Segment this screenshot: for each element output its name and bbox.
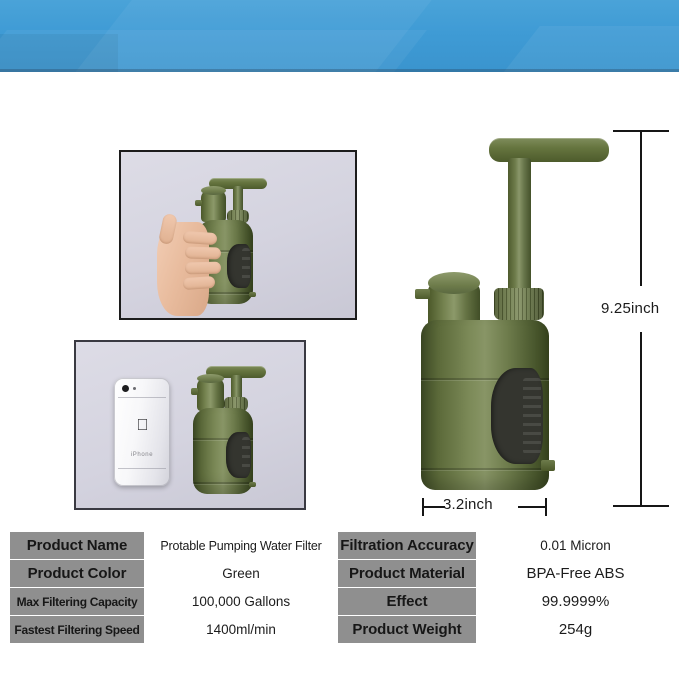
finger	[185, 246, 221, 259]
photo-background	[76, 342, 304, 508]
width-dimension-label: 3.2inch	[443, 496, 493, 513]
finger	[183, 231, 218, 245]
table-row: Product Name Protable Pumping Water Filt…	[10, 532, 675, 560]
inlet-cap-top	[201, 186, 226, 195]
spec-value: 254g	[477, 616, 675, 644]
spec-value: Protable Pumping Water Filter	[145, 532, 338, 560]
spec-label: Max Filtering Capacity	[10, 588, 145, 616]
side-tab	[415, 289, 430, 299]
grip-ribs	[242, 437, 251, 474]
iphone-illustration:  iPhone	[114, 378, 170, 486]
grip-ribs	[523, 378, 541, 455]
filter-body	[421, 320, 549, 490]
side-tab	[191, 388, 198, 395]
table-row: Max Filtering Capacity 100,000 Gallons E…	[10, 588, 675, 616]
spec-value: BPA-Free ABS	[477, 560, 675, 588]
spec-value: 1400ml/min	[145, 616, 338, 644]
photo-filter-beside-iphone:  iPhone	[74, 340, 306, 510]
table-row: Fastest Filtering Speed 1400ml/min Produ…	[10, 616, 675, 644]
spec-value: 100,000 Gallons	[145, 588, 338, 616]
pump-handle-bar	[489, 138, 609, 162]
apple-logo-icon: 	[136, 418, 149, 433]
outlet-nozzle	[249, 292, 256, 297]
height-dimension-bottom-cap	[613, 505, 669, 507]
outlet-nozzle	[249, 482, 256, 487]
height-dimension-line-upper	[640, 130, 642, 286]
rubber-grip-pad	[491, 368, 543, 464]
table-row: Product Color Green Product Material BPA…	[10, 560, 675, 588]
camera-lens-icon	[122, 385, 129, 392]
body-seam	[193, 482, 253, 484]
spec-label: Effect	[338, 588, 477, 616]
outlet-nozzle	[541, 460, 555, 471]
height-dimension-line-lower	[640, 332, 642, 507]
spec-label: Product Name	[10, 532, 145, 560]
top-blue-banner	[0, 0, 679, 72]
finger	[183, 276, 216, 290]
width-dimension-line-left	[422, 506, 445, 508]
filter-body	[193, 408, 253, 494]
specification-table: Product Name Protable Pumping Water Filt…	[9, 531, 675, 644]
spec-value: Green	[145, 560, 338, 588]
side-tab	[195, 200, 202, 206]
antenna-line	[118, 397, 166, 398]
pump-collar	[494, 288, 544, 320]
spec-label: Product Weight	[338, 616, 477, 644]
rubber-grip-pad	[227, 244, 251, 288]
grip-ribs	[242, 248, 250, 283]
height-dimension-label: 9.25inch	[601, 300, 659, 317]
spec-label: Fastest Filtering Speed	[10, 616, 145, 644]
product-infographic-page:  iPhone	[0, 0, 679, 679]
inlet-cap-top	[428, 272, 480, 294]
width-dimension-line-right	[518, 506, 546, 508]
width-dimension-right-cap	[545, 498, 547, 516]
spec-label: Product Color	[10, 560, 145, 588]
spec-value: 99.9999%	[477, 588, 675, 616]
photo-hand-holding-filter	[119, 150, 357, 320]
finger	[185, 262, 221, 275]
spec-label: Filtration Accuracy	[338, 532, 477, 560]
spec-label: Product Material	[338, 560, 477, 588]
flash-icon	[133, 387, 136, 390]
iphone-wordmark: iPhone	[114, 452, 170, 458]
body-seam	[421, 468, 549, 470]
banner-sheen	[438, 26, 679, 72]
antenna-line	[118, 468, 166, 469]
banner-bottom-edge	[0, 69, 679, 72]
spec-value: 0.01 Micron	[477, 532, 675, 560]
inlet-cap-top	[197, 374, 224, 383]
rubber-grip-pad	[226, 432, 251, 478]
collar-ribs	[494, 288, 544, 320]
